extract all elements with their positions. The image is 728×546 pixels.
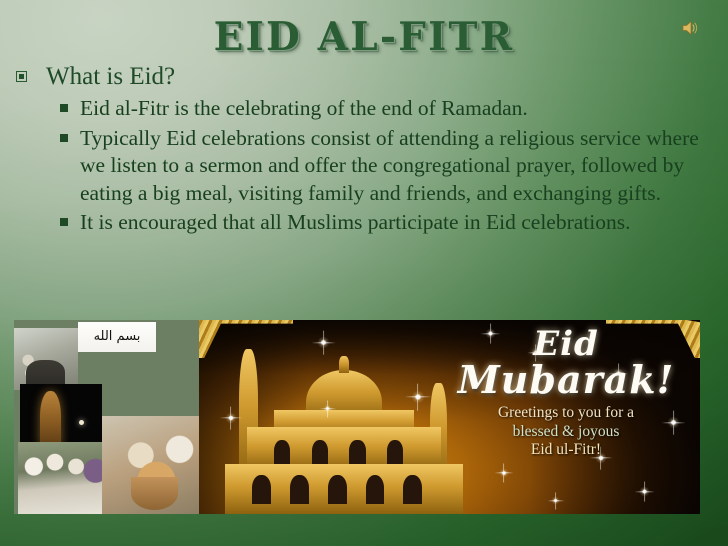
list-item: Eid al-Fitr is the celebrating of the en… bbox=[10, 95, 722, 123]
list-item: What is Eid? bbox=[10, 61, 722, 92]
calligraphy-text: بسم الله الرحمن الرحيم bbox=[78, 322, 156, 352]
sparkle-icon bbox=[499, 468, 509, 478]
eid-mubarak-script: Eid Mubarak! bbox=[448, 326, 684, 400]
moon-icon bbox=[79, 420, 84, 425]
slide: EID AL-FITR What is Eid? Eid al-Fitr is … bbox=[0, 0, 728, 546]
speaker-icon[interactable] bbox=[680, 18, 700, 38]
bread-basket-vendor-photo bbox=[102, 416, 199, 514]
bullet-small-square-icon bbox=[60, 134, 68, 142]
sparkle-icon bbox=[639, 486, 650, 497]
eid-mubarak-card: Eid Mubarak! Greetings to you for a bles… bbox=[199, 320, 700, 514]
mosque-window bbox=[290, 475, 309, 504]
greeting-line-mubarak: Mubarak! bbox=[448, 360, 684, 400]
mosque-window bbox=[312, 440, 328, 464]
sparkle-icon bbox=[411, 390, 425, 404]
mosque-window bbox=[252, 475, 271, 504]
group-of-men-photo bbox=[18, 442, 106, 514]
mosque-window bbox=[349, 440, 365, 464]
mosque-illustration bbox=[209, 346, 479, 514]
eid-photo-collage: بسم الله الرحمن الرحيم bbox=[14, 320, 199, 514]
mosque-window bbox=[387, 440, 403, 464]
mosque-finial bbox=[339, 356, 349, 373]
sparkle-icon bbox=[551, 496, 560, 505]
bullet-small-square-icon bbox=[60, 218, 68, 226]
mosque-window bbox=[403, 475, 422, 504]
bullet-list: What is Eid? Eid al-Fitr is the celebrat… bbox=[10, 61, 722, 239]
mosque-window bbox=[328, 475, 347, 504]
mosque-window bbox=[274, 440, 290, 464]
sparkle-icon bbox=[323, 404, 332, 413]
list-item-label: Eid al-Fitr is the celebrating of the en… bbox=[80, 95, 722, 123]
image-strip: بسم الله الرحمن الرحيم bbox=[14, 320, 700, 514]
sparkle-icon bbox=[225, 412, 237, 424]
list-item: It is encouraged that all Muslims partic… bbox=[10, 209, 722, 237]
page-title: EID AL-FITR bbox=[0, 14, 728, 60]
crowd-of-boys-photo bbox=[14, 328, 78, 390]
arabic-calligraphy-banner: بسم الله الرحمن الرحيم bbox=[78, 322, 156, 352]
greeting-subtext: Greetings to you for a blessed & joyous … bbox=[448, 404, 684, 460]
minaret-tower bbox=[40, 391, 61, 446]
greeting-subline-3: Eid ul-Fitr! bbox=[448, 441, 684, 460]
list-item-label: Typically Eid celebrations consist of at… bbox=[80, 125, 722, 208]
list-item-label: It is encouraged that all Muslims partic… bbox=[80, 209, 722, 237]
mosque-window bbox=[366, 475, 385, 504]
sparkle-icon bbox=[317, 336, 330, 349]
list-item-label: What is Eid? bbox=[46, 61, 722, 92]
list-item: Typically Eid celebrations consist of at… bbox=[10, 125, 722, 208]
night-minaret-photo bbox=[20, 384, 102, 448]
greeting-subline-2: blessed & joyous bbox=[448, 423, 684, 442]
bullet-square-outline-icon bbox=[16, 71, 27, 82]
greeting-text-block: Eid Mubarak! Greetings to you for a bles… bbox=[448, 326, 684, 460]
greeting-subline-1: Greetings to you for a bbox=[448, 404, 684, 423]
bullet-small-square-icon bbox=[60, 104, 68, 112]
